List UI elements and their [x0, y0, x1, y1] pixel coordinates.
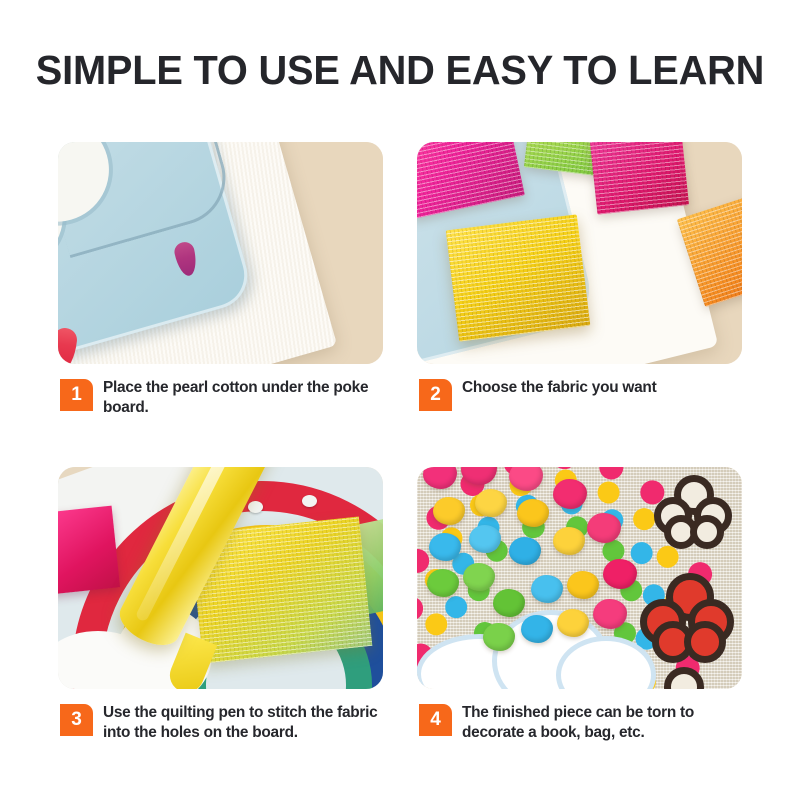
flower-patch-outline [644, 667, 722, 689]
fabric-tuft [433, 497, 465, 525]
fabric-tuft [517, 499, 549, 527]
fabric-tuft [483, 623, 515, 651]
fabric-tuft [557, 609, 589, 637]
step-2-caption: 2 Choose the fabric you want [417, 378, 742, 418]
page-title: SIMPLE TO USE AND EASY TO LEARN [12, 47, 788, 94]
fabric-tuft [427, 569, 459, 597]
finished-piece-scene [417, 467, 742, 689]
board-hole [302, 495, 317, 507]
step-number-badge-3: 3 [60, 704, 93, 736]
fabric-tuft [587, 513, 621, 543]
fabric-tuft [603, 559, 637, 589]
step-3-photo [58, 467, 383, 689]
fabric-tuft [493, 589, 525, 617]
step-3-text: Use the quilting pen to stitch the fabri… [103, 703, 383, 743]
step-3-caption: 3 Use the quilting pen to stitch the fab… [58, 703, 383, 743]
fabric-pink [58, 506, 120, 595]
fabric-tuft [567, 571, 599, 599]
step-4-photo [417, 467, 742, 689]
fabric-tuft [429, 533, 461, 561]
step-2-text: Choose the fabric you want [462, 378, 742, 398]
stitching-scene [58, 467, 383, 689]
flower-patch-outline [654, 475, 732, 549]
step-card-1: 1 Place the pearl cotton under the poke … [58, 142, 383, 418]
fabric-square-magenta [589, 142, 689, 215]
step-2-photo [417, 142, 742, 364]
fabric-tuft [509, 537, 541, 565]
step-4-text: The finished piece can be torn to decora… [462, 703, 742, 743]
fabric-square-yellow [446, 214, 591, 341]
fabric-tuft [593, 599, 627, 629]
step-card-2: 2 Choose the fabric you want [417, 142, 742, 418]
fabric-tuft [469, 525, 501, 553]
step-1-caption: 1 Place the pearl cotton under the poke … [58, 378, 383, 418]
step-1-photo [58, 142, 383, 364]
fabric-tuft [531, 575, 563, 603]
fabric-tuft [463, 563, 495, 591]
step-card-4: 4 The finished piece can be torn to deco… [417, 467, 742, 743]
step-number-badge-4: 4 [419, 704, 452, 736]
poke-board-scene [58, 142, 383, 364]
fabric-tuft [553, 527, 585, 555]
board-hole [248, 501, 263, 513]
steps-grid: 1 Place the pearl cotton under the poke … [58, 142, 742, 752]
step-1-text: Place the pearl cotton under the poke bo… [103, 378, 383, 418]
fabric-tuft [553, 479, 587, 509]
step-4-caption: 4 The finished piece can be torn to deco… [417, 703, 742, 743]
step-number-badge-2: 2 [419, 379, 452, 411]
fabric-tuft [521, 615, 553, 643]
flower-patch-red [640, 573, 736, 665]
infographic-page: SIMPLE TO USE AND EASY TO LEARN 1 [0, 0, 800, 800]
fabric-selection-scene [417, 142, 742, 364]
step-number-badge-1: 1 [60, 379, 93, 411]
fabric-tuft [475, 489, 507, 517]
step-card-3: 3 Use the quilting pen to stitch the fab… [58, 467, 383, 743]
